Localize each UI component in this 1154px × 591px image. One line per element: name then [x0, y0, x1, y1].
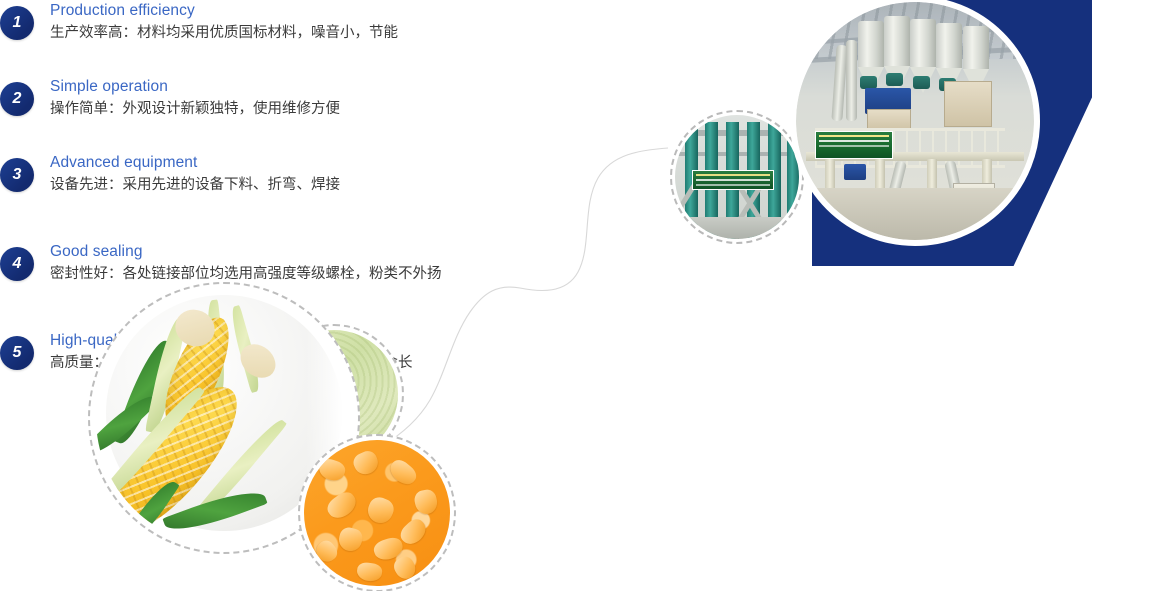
infographic-canvas: 1 Production efficiency 生产效率高：材料均采用优质国标材…: [0, 0, 1154, 591]
feature-description: 生产效率高：材料均采用优质国标材料，噪音小，节能: [50, 22, 398, 44]
feature-description: 操作简单：外观设计新颖独特，使用维修方便: [50, 98, 340, 120]
corn-image-group: [88, 282, 488, 591]
feature-title: Advanced equipment: [50, 152, 340, 173]
teal-flour-mill-photo: [675, 115, 799, 239]
factory-image-group: [660, 0, 1154, 276]
feature-title: Simple operation: [50, 76, 340, 97]
feature-number-badge: 3: [0, 158, 34, 192]
corn-kernels-photo-circle: [298, 434, 456, 591]
feature-number-badge: 2: [0, 82, 34, 116]
feature-text-block: Production efficiency 生产效率高：材料均采用优质国标材料，…: [50, 0, 398, 44]
feature-number-badge: 1: [0, 6, 34, 40]
feature-number-badge: 4: [0, 247, 34, 281]
flour-mill-photo-circle: [790, 0, 1040, 246]
feature-text-block: Simple operation 操作简单：外观设计新颖独特，使用维修方便: [50, 76, 340, 120]
feature-text-block: Good sealing 密封性好：各处链接部位均选用高强度等级螺栓，粉类不外扬: [50, 241, 442, 285]
feature-title: Good sealing: [50, 241, 442, 262]
teal-mill-photo-circle: [670, 110, 804, 244]
corn-kernels-photo: [304, 440, 450, 586]
feature-title: Production efficiency: [50, 0, 398, 21]
feature-description: 设备先进：采用先进的设备下料、折弯、焊接: [50, 174, 340, 196]
flour-mill-plant-photo: [796, 2, 1034, 240]
feature-text-block: Advanced equipment 设备先进：采用先进的设备下料、折弯、焊接: [50, 152, 340, 196]
feature-number-badge: 5: [0, 336, 34, 370]
